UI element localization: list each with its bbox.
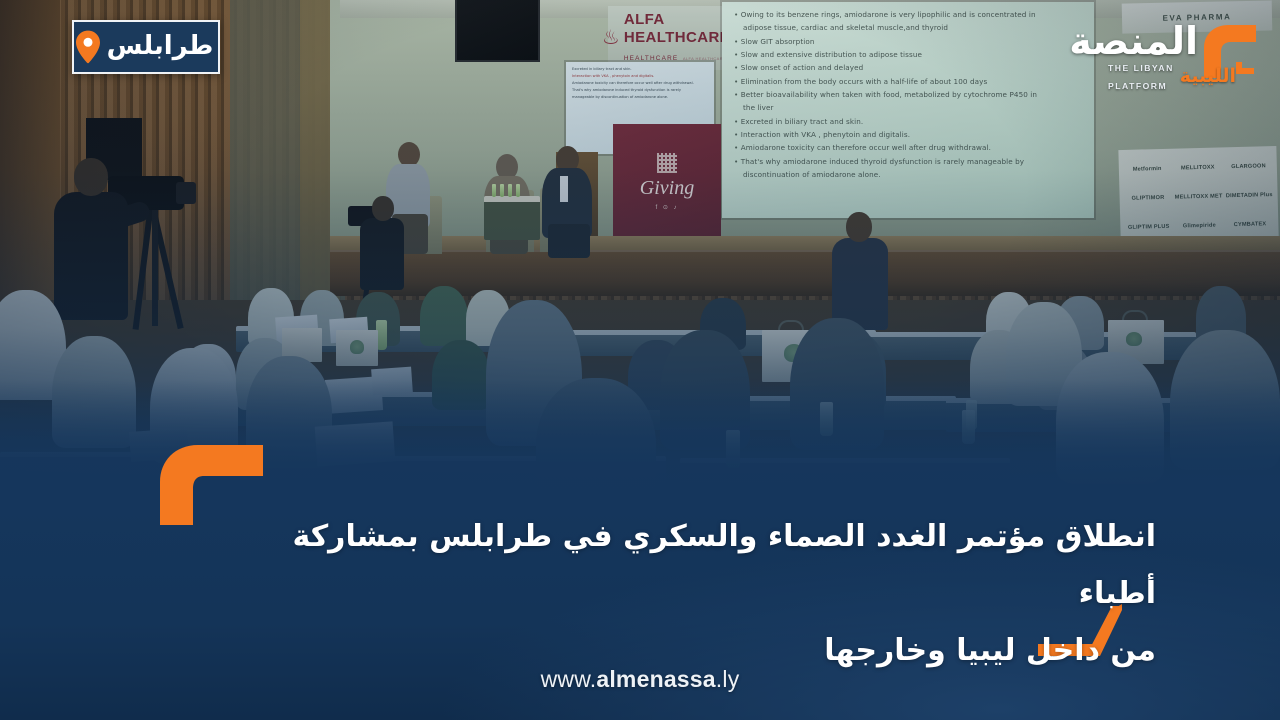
url-prefix: www. (541, 666, 597, 692)
news-card: ♨ ALFA HEALTHCARE HEALTHCARE ALFA HEALTH… (0, 0, 1280, 720)
brand-name-en-line2: PLATFORM (1108, 81, 1167, 91)
brand-name-ar: المنصة (1069, 22, 1198, 60)
map-pin-icon (75, 30, 101, 64)
location-badge: طرابلس (72, 20, 220, 74)
headline-line-1: انطلاق مؤتمر الغدد الصماء والسكري في طرا… (293, 519, 1156, 611)
url-name: almenassa (596, 666, 715, 692)
website-url[interactable]: www.almenassa.ly (0, 666, 1280, 693)
location-badge-label: طرابلس (107, 33, 214, 61)
brand-subtitle-ar: الليبية (1180, 67, 1236, 86)
brand-name-en-line1: THE LIBYAN (1108, 63, 1174, 73)
brand-logo: المنصة الليبية THE LIBYAN PLATFORM (1044, 14, 1266, 92)
headline: انطلاق مؤتمر الغدد الصماء والسكري في طرا… (250, 508, 1156, 679)
quote-bracket-open-icon (160, 444, 263, 525)
url-tld: .ly (716, 666, 740, 692)
